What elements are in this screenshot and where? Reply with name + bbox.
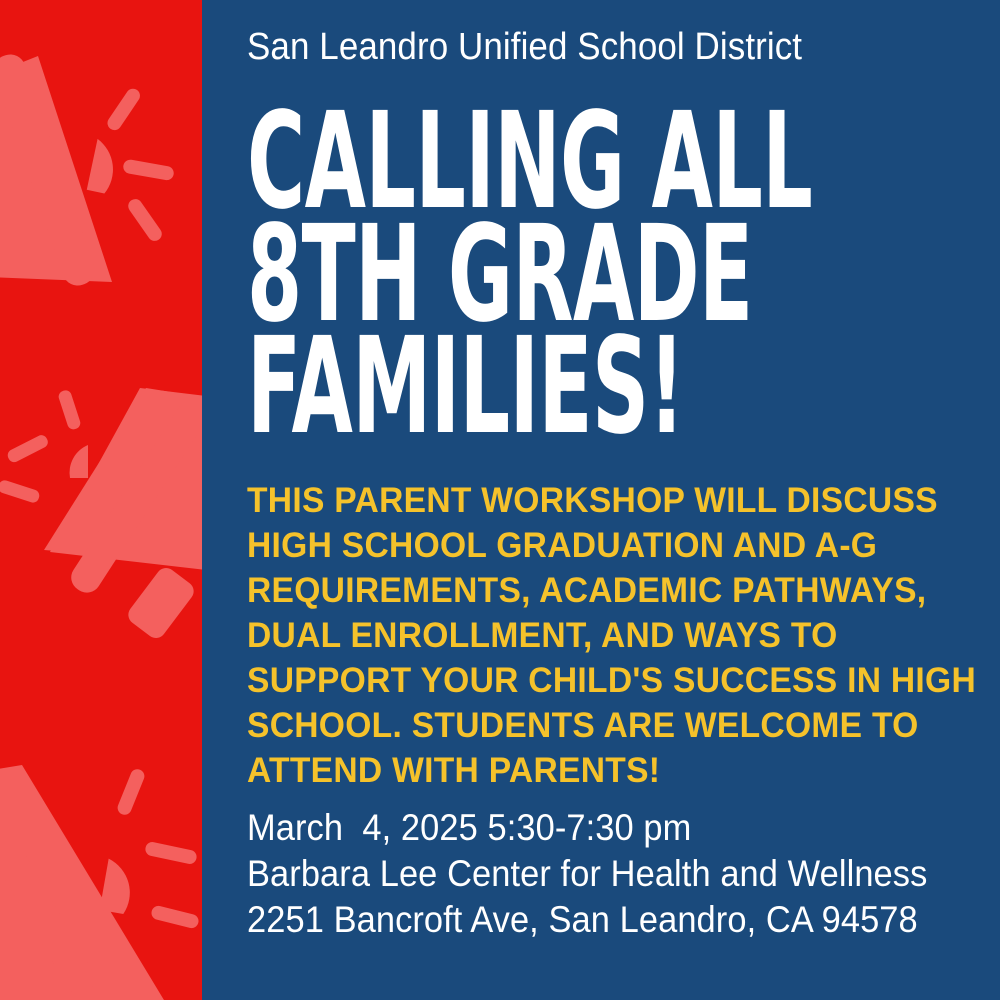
megaphone-top-icon [0,50,175,289]
description-line-6: SCHOOL. STUDENTS ARE WELCOME TO [247,703,977,748]
event-date-time: March 4, 2025 5:30-7:30 pm [247,805,954,851]
event-details-block: March 4, 2025 5:30-7:30 pm Barbara Lee C… [247,805,1000,943]
blue-content-panel: San Leandro Unified School District CALL… [202,0,1000,1000]
district-name: San Leandro Unified School District [247,27,802,69]
description-line-2: HIGH SCHOOL GRADUATION AND A-G [247,523,977,568]
headline-line-3: FAMILIES! [247,329,709,446]
description-line-3: REQUIREMENTS, ACADEMIC PATHWAYS, [247,568,977,613]
description-line-7: ATTEND WITH PARENTS! [247,748,977,793]
flyer-poster: San Leandro Unified School District CALL… [0,0,1000,1000]
description-line-1: THIS PARENT WORKSHOP WILL DISCUSS [247,478,977,523]
headline-block: CALLING ALL 8TH GRADE FAMILIES! [247,104,992,442]
red-decorative-panel [0,0,202,1000]
workshop-description-block: THIS PARENT WORKSHOP WILL DISCUSS HIGH S… [247,478,1000,793]
event-address: 2251 Bancroft Ave, San Leandro, CA 94578 [247,897,954,943]
event-venue: Barbara Lee Center for Health and Wellne… [247,851,954,897]
description-line-5: SUPPORT YOUR CHILD'S SUCCESS IN HIGH [247,658,977,703]
description-line-4: DUAL ENROLLMENT, AND WAYS TO [247,613,977,658]
megaphone-bottom-icon [0,765,200,1000]
megaphone-middle-icon [0,388,202,642]
content-column: San Leandro Unified School District CALL… [247,0,992,1000]
